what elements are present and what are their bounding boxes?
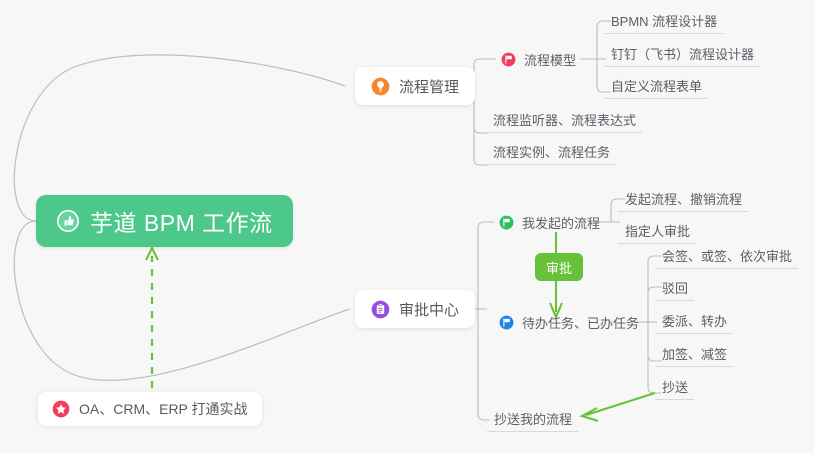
node-process-model[interactable]: 流程模型 — [494, 46, 582, 72]
node-cc-to-me-process[interactable]: 抄送我的流程 — [487, 406, 578, 432]
node-bpmn-designer[interactable]: BPMN 流程设计器 — [604, 8, 723, 34]
label-assignee-approval: 指定人审批 — [625, 221, 690, 240]
label-cc-to-me-process: 抄送我的流程 — [494, 409, 572, 428]
node-add-remove-sign[interactable]: 加签、减签 — [655, 341, 733, 367]
branch-node-approval-center[interactable]: 审批中心 — [355, 290, 475, 328]
label-dingtalk-feishu-designer: 钉钉（飞书）流程设计器 — [611, 44, 754, 63]
label-reject: 驳回 — [662, 278, 688, 297]
node-process-listener-expression[interactable]: 流程监听器、流程表达式 — [486, 107, 642, 133]
node-start-cancel-process[interactable]: 发起流程、撤销流程 — [618, 186, 748, 212]
callout-approval-label: 审批 — [546, 258, 572, 277]
branch-label-process-management: 流程管理 — [399, 76, 459, 97]
edge-pm-branch-model — [474, 59, 496, 86]
annotation-integration-arrowhead — [146, 248, 158, 260]
node-todo-done-tasks[interactable]: 待办任务、已办任务 — [492, 309, 645, 335]
node-reject[interactable]: 驳回 — [655, 275, 694, 301]
node-process-instance-task[interactable]: 流程实例、流程任务 — [486, 139, 616, 165]
label-countersign-or-sequential: 会签、或签、依次审批 — [662, 246, 792, 265]
node-custom-process-form[interactable]: 自定义流程表单 — [604, 73, 708, 99]
root-label: 芋道 BPM 工作流 — [90, 204, 273, 238]
node-assignee-approval[interactable]: 指定人审批 — [618, 218, 696, 244]
label-custom-process-form: 自定义流程表单 — [611, 76, 702, 95]
node-delegate-transfer[interactable]: 委派、转办 — [655, 308, 733, 334]
label-process-listener-expression: 流程监听器、流程表达式 — [493, 110, 636, 129]
node-dingtalk-feishu-designer[interactable]: 钉钉（飞书）流程设计器 — [604, 41, 760, 67]
lightbulb-icon — [371, 77, 390, 96]
node-countersign-or-sequential[interactable]: 会签、或签、依次审批 — [655, 243, 798, 269]
label-bpmn-designer: BPMN 流程设计器 — [611, 11, 717, 30]
edge-ac-branch-ccme — [478, 309, 490, 420]
mindmap-canvas: 芋道 BPM 工作流 流程管理 流程模型 BPMN 流程设计器 钉钉 — [0, 0, 814, 453]
branch-node-process-management[interactable]: 流程管理 — [355, 67, 475, 105]
edge-ac-branch-initiated — [478, 222, 494, 309]
root-node[interactable]: 芋道 BPM 工作流 — [36, 195, 293, 247]
thumbs-up-icon — [56, 209, 80, 233]
node-my-initiated-process[interactable]: 我发起的流程 — [492, 209, 606, 235]
label-cc: 抄送 — [662, 377, 688, 396]
node-cc[interactable]: 抄送 — [655, 374, 694, 400]
flag-icon — [499, 315, 514, 330]
label-todo-done-tasks: 待办任务、已办任务 — [522, 313, 639, 332]
callout-approval[interactable]: 审批 — [535, 253, 583, 281]
annotation-cc-arrowhead — [582, 408, 598, 421]
label-my-initiated-process: 我发起的流程 — [522, 213, 600, 232]
label-start-cancel-process: 发起流程、撤销流程 — [625, 189, 742, 208]
annotation-cc-line — [586, 393, 655, 415]
clipboard-icon — [371, 300, 390, 319]
floating-node-label: OA、CRM、ERP 打通实战 — [79, 399, 248, 419]
floating-node-oa-crm-erp[interactable]: OA、CRM、ERP 打通实战 — [38, 392, 262, 426]
branch-label-approval-center: 审批中心 — [399, 299, 459, 320]
flag-icon — [499, 215, 514, 230]
label-delegate-transfer: 委派、转办 — [662, 311, 727, 330]
label-add-remove-sign: 加签、减签 — [662, 344, 727, 363]
star-icon — [52, 400, 70, 418]
flag-icon — [501, 52, 516, 67]
label-process-model: 流程模型 — [524, 50, 576, 69]
label-process-instance-task: 流程实例、流程任务 — [493, 142, 610, 161]
